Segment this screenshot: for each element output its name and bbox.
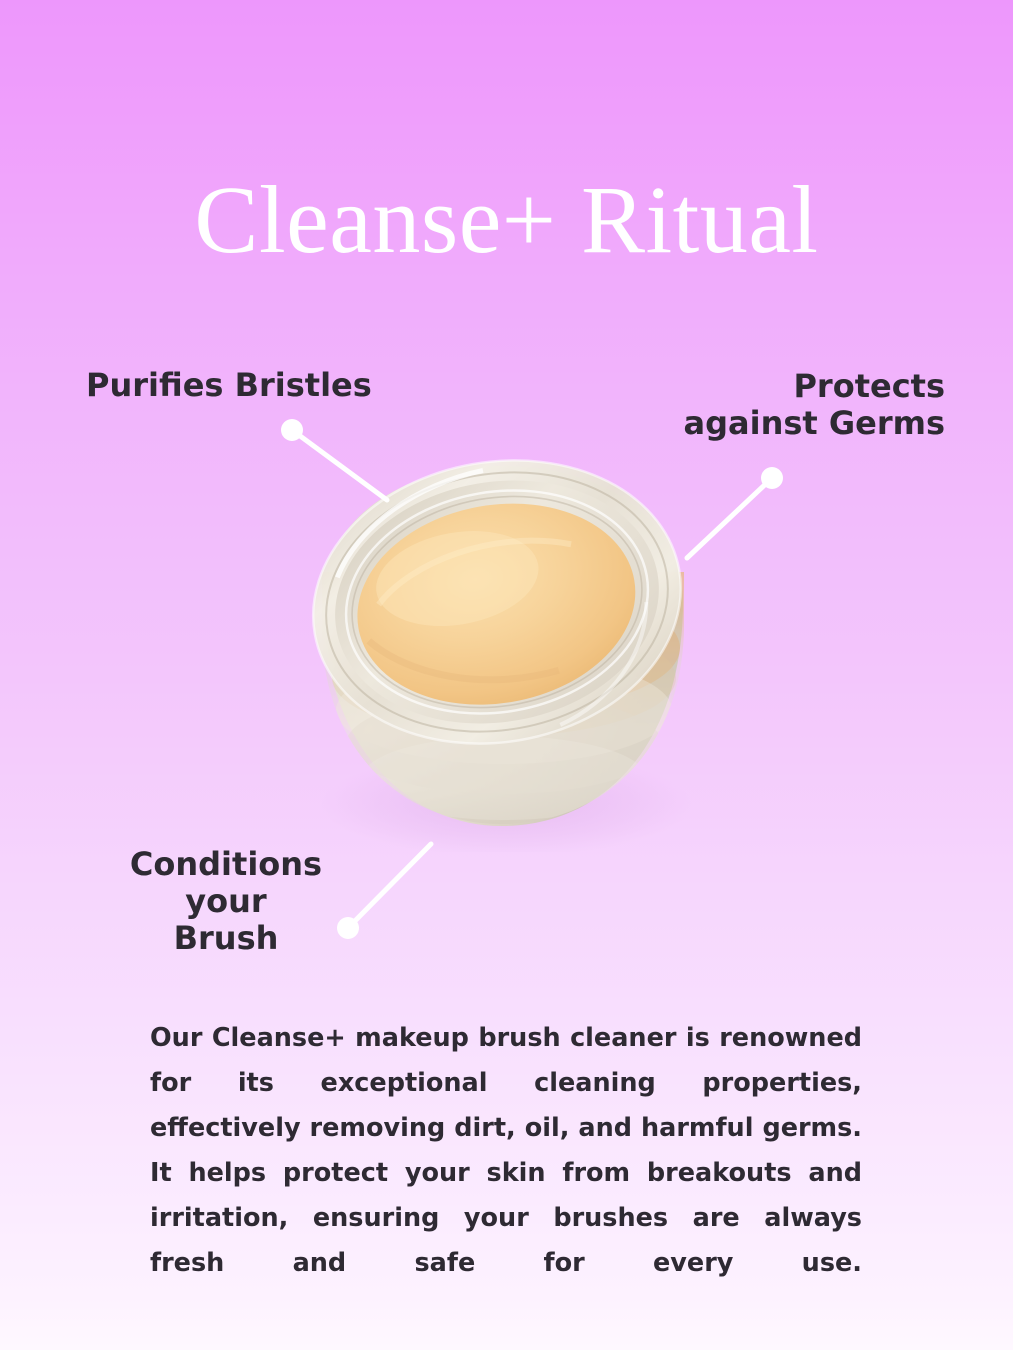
callout-purifies-line1: Purifies Bristles	[86, 367, 372, 404]
body-paragraph: Our Cleanse+ makeup brush cleaner is ren…	[150, 1016, 862, 1331]
callout-purifies-bristles: Purifies Bristles	[86, 367, 372, 404]
callout-protects-line1: Protects	[605, 368, 945, 405]
callout-conditions-your-brush: Conditions your Brush	[86, 846, 366, 957]
callout-protects-line2: against Germs	[605, 405, 945, 442]
product-feature-poster: Cleanse+ Ritual	[0, 0, 1013, 1350]
connector-dot-purifies	[281, 419, 303, 441]
callout-conditions-line1: Conditions your	[86, 846, 366, 920]
page-title: Cleanse+ Ritual	[0, 172, 1013, 268]
callout-conditions-line2: Brush	[86, 920, 366, 957]
product-jar-image	[292, 452, 710, 852]
connector-dot-protects	[761, 467, 783, 489]
callout-protects-against-germs: Protects against Germs	[605, 368, 945, 442]
